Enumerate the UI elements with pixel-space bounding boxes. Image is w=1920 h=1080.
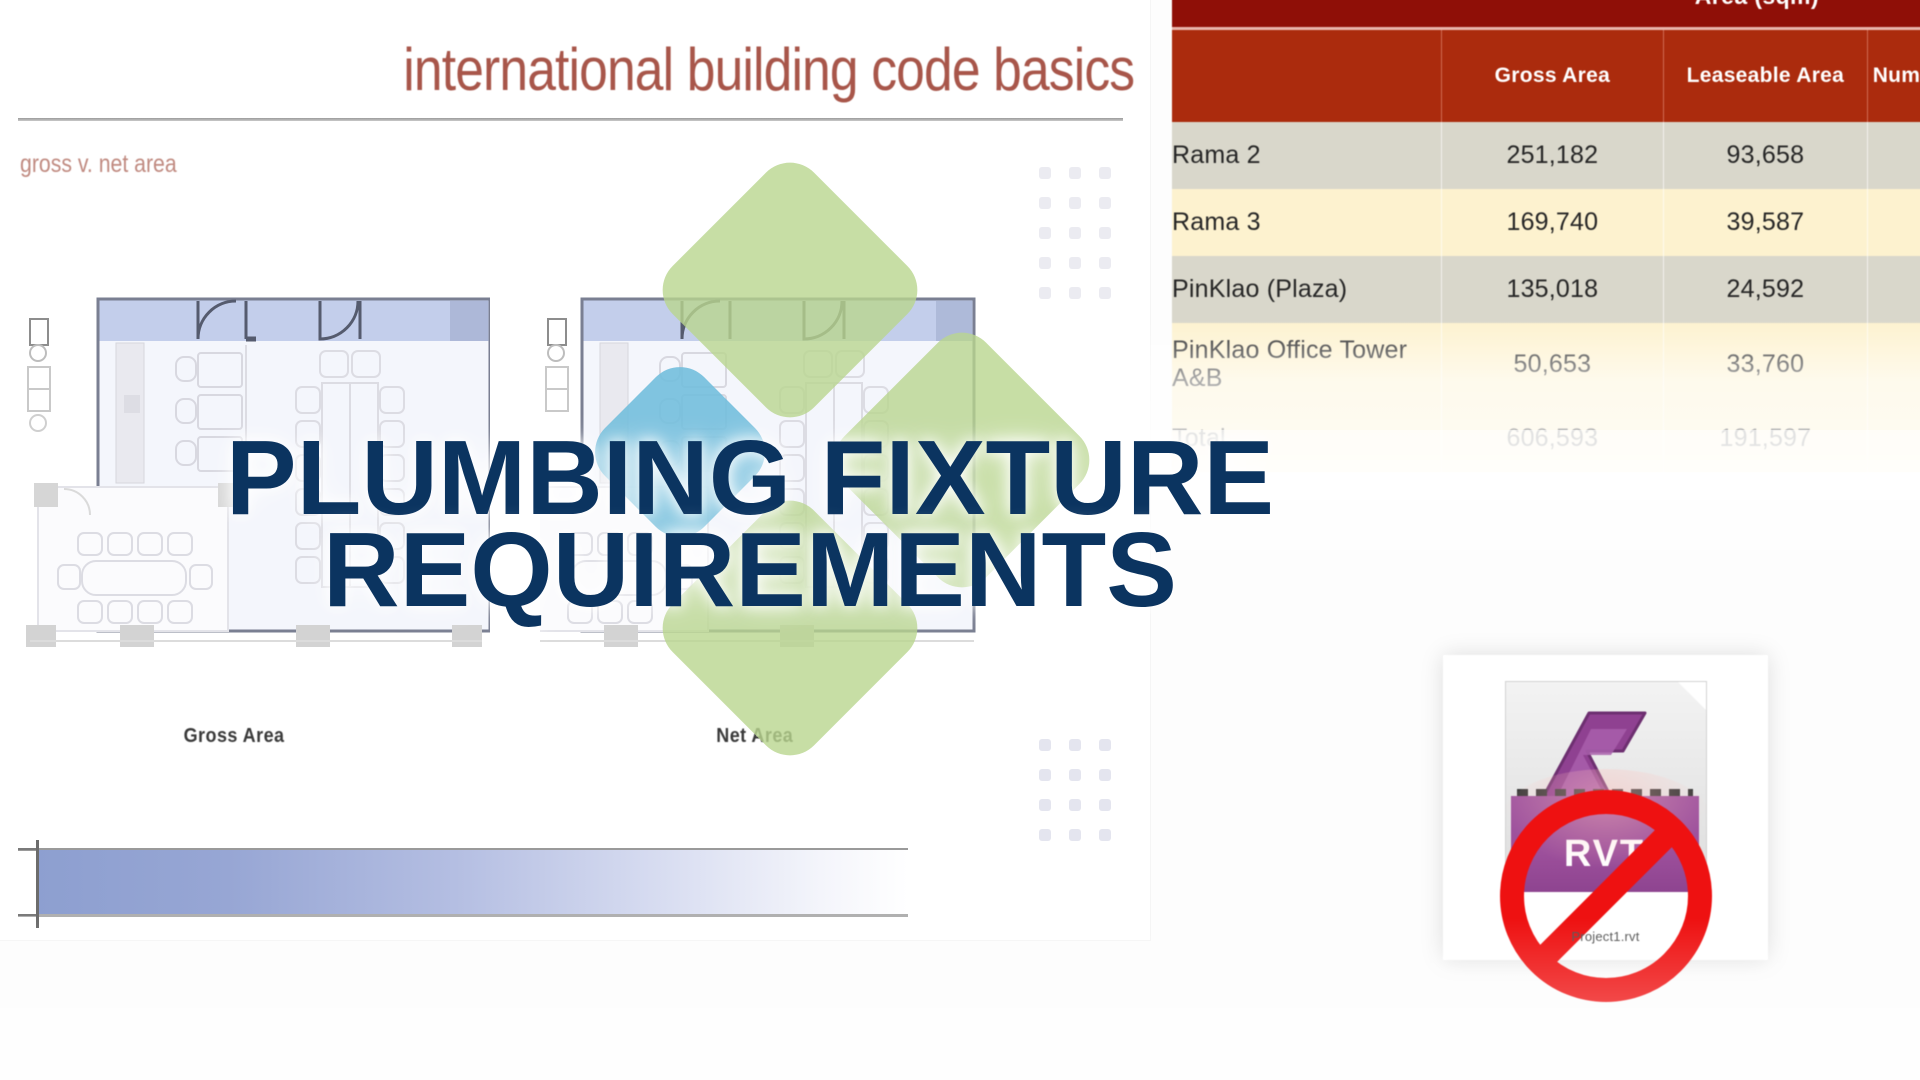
cell-tenants: 322 — [1868, 122, 1920, 189]
area-summary-table: Area (sqm) Gross Area Leaseable Area Num… — [1172, 0, 1920, 472]
revit-filename-label: Project1.rvt — [1443, 929, 1768, 944]
slide-subtitle: gross v. net area — [20, 150, 177, 179]
cell-name: PinKlao (Plaza) — [1172, 256, 1442, 323]
cell-gross-area: 169,740 — [1442, 189, 1663, 256]
gradient-bar-bottom-rule — [18, 914, 908, 917]
table-head: Area (sqm) Gross Area Leaseable Area Num… — [1172, 0, 1920, 122]
table-row: PinKlao Office Tower A&B 50,653 33,760 9… — [1172, 323, 1920, 405]
cell-tenants: 97 — [1868, 323, 1920, 405]
table-header-name — [1172, 29, 1442, 123]
table-group-header-row: Area (sqm) — [1172, 0, 1920, 29]
table-body: Rama 2 251,182 93,658 322 Rama 3 169,740… — [1172, 122, 1920, 472]
table-row: Rama 3 169,740 39,587 236 — [1172, 189, 1920, 256]
cell-name: Rama 3 — [1172, 189, 1442, 256]
gradient-scale-bar — [18, 838, 908, 920]
cell-name: Rama 2 — [1172, 122, 1442, 189]
cell-tenants: 773 — [1868, 405, 1920, 472]
table-header-gross-area: Gross Area — [1442, 29, 1663, 123]
prohibition-no-entry-icon — [1495, 785, 1717, 1007]
cell-gross-area: 50,653 — [1442, 323, 1663, 405]
table-group-header-area: Area (sqm) — [1442, 0, 1920, 29]
table-column-header-row: Gross Area Leaseable Area Number of Tena… — [1172, 29, 1920, 123]
floorplan-diagram-gross — [20, 295, 490, 680]
gradient-bar-tick-top — [18, 848, 36, 850]
table-row: Rama 2 251,182 93,658 322 — [1172, 122, 1920, 189]
dot-grid-decoration-top — [1030, 158, 1120, 308]
cell-leaseable-area: 33,760 — [1663, 323, 1868, 405]
title-divider — [18, 118, 1123, 121]
cell-gross-area: 135,018 — [1442, 256, 1663, 323]
cell-gross-area: 251,182 — [1442, 122, 1663, 189]
cell-leaseable-area: 39,587 — [1663, 189, 1868, 256]
floorplan-label-gross: Gross Area — [184, 725, 285, 748]
cell-name: PinKlao Office Tower A&B — [1172, 323, 1442, 405]
cell-name: Total — [1172, 405, 1442, 472]
table-corner-cell — [1172, 0, 1442, 29]
cell-leaseable-area: 191,597 — [1663, 405, 1868, 472]
gradient-bar-fill — [36, 850, 908, 914]
cell-leaseable-area: 24,592 — [1663, 256, 1868, 323]
cell-tenants: 118 — [1868, 256, 1920, 323]
gradient-bar-axis — [36, 840, 39, 928]
table-header-leaseable-area: Leaseable Area — [1663, 29, 1868, 123]
cell-gross-area: 606,593 — [1442, 405, 1663, 472]
slide-canvas: international building code basics gross… — [0, 0, 1920, 1080]
dot-grid-decoration-bottom — [1030, 730, 1120, 850]
revit-file-badge: RVT Project1.rvt — [1443, 655, 1768, 960]
cell-tenants: 236 — [1868, 189, 1920, 256]
table-header-number-of-tenants: Number of Tenants — [1868, 29, 1920, 123]
table-row-total: Total 606,593 191,597 773 — [1172, 405, 1920, 472]
revit-icon: RVT — [1491, 677, 1721, 902]
slide-title: international building code basics — [403, 38, 1130, 101]
cell-leaseable-area: 93,658 — [1663, 122, 1868, 189]
page-fold-corner — [1678, 682, 1706, 710]
table-row: PinKlao (Plaza) 135,018 24,592 118 — [1172, 256, 1920, 323]
gradient-bar-tick-bottom — [18, 914, 36, 916]
